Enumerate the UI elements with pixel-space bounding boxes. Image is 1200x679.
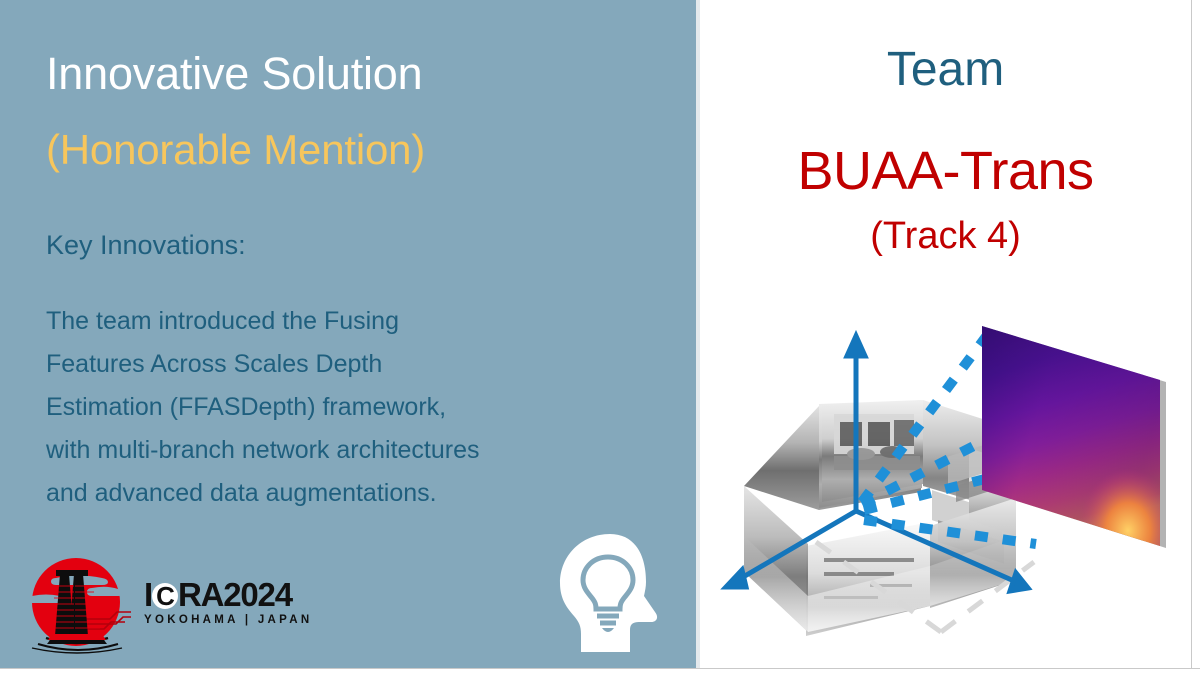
page-title: Innovative Solution — [46, 48, 422, 100]
team-label: Team — [700, 42, 1191, 97]
icra-wordmark-prefix: I — [144, 576, 152, 613]
icra-city-line: YOKOHAMA | JAPAN — [144, 614, 324, 626]
icra-c-glyph — [152, 583, 178, 609]
page-subtitle: (Honorable Mention) — [46, 126, 425, 174]
slide-bottom-strip — [0, 668, 1200, 679]
icra-2024-logo: IRA2024 YOKOHAMA | JAPAN — [22, 556, 322, 656]
team-name: BUAA-Trans — [700, 140, 1191, 202]
right-panel: Team BUAA-Trans (Track 4) — [700, 0, 1191, 668]
icra-wordmark-text: IRA2024 — [144, 578, 324, 612]
team-track: (Track 4) — [700, 215, 1191, 258]
icra-wordmark: IRA2024 YOKOHAMA | JAPAN — [144, 578, 324, 626]
slide-canvas: Innovative Solution (Honorable Mention) … — [0, 0, 1200, 679]
slide-right-border — [1191, 0, 1192, 668]
left-panel: Innovative Solution (Honorable Mention) … — [0, 0, 696, 668]
panoramic-depth-estimation-diagram — [716, 296, 1176, 666]
icra-wordmark-suffix: RA2024 — [178, 576, 292, 613]
head-lightbulb-icon — [552, 530, 672, 656]
yokohama-marine-tower-icon — [22, 556, 134, 656]
body-paragraph: The team introduced the Fusing Features … — [46, 300, 666, 515]
section-label: Key Innovations: — [46, 230, 246, 261]
